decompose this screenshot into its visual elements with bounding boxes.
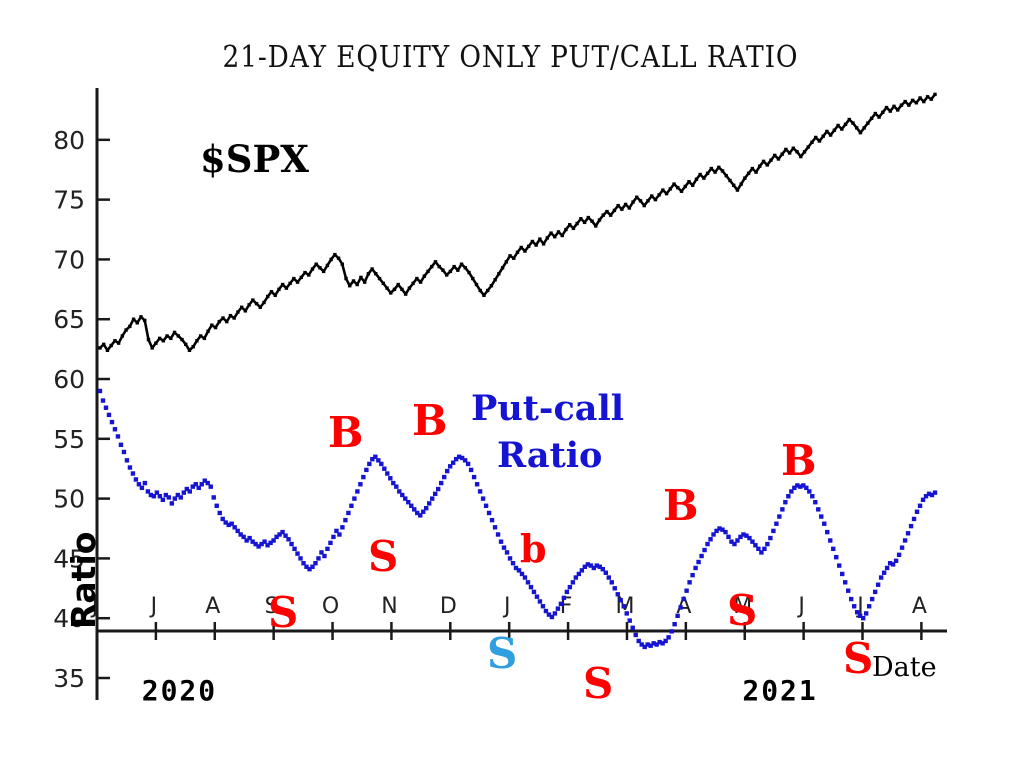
data-point <box>699 554 703 558</box>
data-point <box>867 604 871 608</box>
data-point <box>816 507 820 511</box>
x-tick-label: J <box>502 594 511 619</box>
data-point <box>445 469 449 473</box>
sell-signal-marker: S <box>268 592 298 634</box>
data-point <box>502 545 506 549</box>
data-point <box>292 547 296 551</box>
data-point <box>469 468 473 472</box>
data-point <box>343 518 347 522</box>
data-point <box>125 458 129 462</box>
data-point <box>499 539 503 543</box>
chart-canvas: 21-DAY EQUITY ONLY PUT/CALL RATIO 807570… <box>0 0 1021 781</box>
data-point <box>538 599 542 603</box>
data-point <box>116 434 120 438</box>
sell-signal-marker: S <box>727 590 757 632</box>
data-point <box>834 555 838 559</box>
data-point <box>170 501 174 505</box>
data-point <box>684 588 688 592</box>
data-point <box>379 462 383 466</box>
data-point <box>876 583 880 587</box>
data-point <box>128 465 132 469</box>
data-point <box>337 532 341 536</box>
data-point <box>340 525 344 529</box>
data-point <box>439 481 443 485</box>
data-point <box>822 522 826 526</box>
data-point <box>571 580 575 584</box>
data-point <box>861 616 865 620</box>
data-point <box>286 537 290 541</box>
data-point <box>681 597 685 601</box>
data-point <box>628 618 632 622</box>
y-tick-label: 35 <box>53 664 85 693</box>
data-point <box>562 596 566 600</box>
data-point <box>346 511 350 515</box>
data-point <box>110 420 114 424</box>
data-point <box>777 514 781 518</box>
y-tick-label: 75 <box>53 186 85 215</box>
data-point <box>505 550 509 554</box>
data-point <box>496 532 500 536</box>
data-point <box>490 518 494 522</box>
data-point <box>313 561 317 565</box>
data-point <box>424 506 428 510</box>
data-point <box>358 482 362 486</box>
data-point <box>783 500 787 504</box>
data-point <box>508 556 512 560</box>
data-point <box>367 462 371 466</box>
put-call-series-label: Put-call <box>471 390 624 428</box>
data-point <box>903 538 907 542</box>
y-tick-label: 65 <box>53 305 85 334</box>
data-point <box>705 542 709 546</box>
data-point <box>918 504 922 508</box>
data-point <box>840 572 844 576</box>
data-point <box>107 413 111 417</box>
data-point <box>328 541 332 545</box>
data-point <box>666 635 670 639</box>
series-segment <box>145 320 149 339</box>
data-point <box>559 602 563 606</box>
data-point <box>427 501 431 505</box>
sell-signal-marker: S <box>368 536 398 578</box>
data-point <box>565 590 569 594</box>
data-point <box>825 530 829 534</box>
data-point <box>493 525 497 529</box>
data-point <box>430 496 434 500</box>
x-tick-label: A <box>205 594 220 619</box>
data-point <box>161 498 165 502</box>
data-point <box>511 561 515 565</box>
data-point <box>433 492 437 496</box>
data-point <box>669 629 673 633</box>
x-tick-label: N <box>381 594 397 619</box>
put-call-series-label: Ratio <box>497 437 602 475</box>
data-point <box>843 580 847 584</box>
data-point <box>322 554 326 558</box>
x-axis-year-label: 2021 <box>742 674 817 707</box>
data-point <box>188 489 192 493</box>
data-point <box>607 575 611 579</box>
data-point <box>672 622 676 626</box>
data-point <box>702 548 706 552</box>
data-point <box>909 524 913 528</box>
data-point <box>289 542 293 546</box>
data-point <box>541 604 545 608</box>
sell-signal-marker: S <box>583 663 613 705</box>
data-point <box>481 496 485 500</box>
data-point <box>933 93 936 96</box>
x-axis-title: Date <box>872 652 937 683</box>
data-point <box>556 606 560 610</box>
data-point <box>708 537 712 541</box>
data-point <box>361 475 365 479</box>
data-point <box>553 611 557 615</box>
data-point <box>786 494 790 498</box>
data-point <box>625 611 629 615</box>
data-point <box>529 585 533 589</box>
data-point <box>693 566 697 570</box>
data-point <box>810 494 814 498</box>
data-point <box>762 547 766 551</box>
data-point <box>765 542 769 546</box>
buy-signal-marker: B <box>328 412 364 454</box>
data-point <box>349 504 353 508</box>
data-point <box>774 522 778 526</box>
data-point <box>864 611 868 615</box>
data-point <box>355 489 359 493</box>
y-tick-label: 80 <box>53 126 85 155</box>
data-point <box>382 467 386 471</box>
data-point <box>780 507 784 511</box>
data-point <box>675 614 679 618</box>
data-point <box>385 471 389 475</box>
data-point <box>532 590 536 594</box>
data-point <box>143 481 147 485</box>
data-point <box>622 604 626 608</box>
data-point <box>613 586 617 590</box>
x-axis-year-label: 2020 <box>142 674 217 707</box>
y-tick-label: 50 <box>53 485 85 514</box>
x-tick-label: J <box>149 594 158 619</box>
data-point <box>484 504 488 508</box>
buy-signal-marker: B <box>412 400 448 442</box>
data-point <box>768 536 772 540</box>
data-point <box>215 504 219 508</box>
data-point <box>119 443 123 447</box>
data-point <box>101 398 105 402</box>
y-tick-label: 55 <box>53 425 85 454</box>
data-point <box>535 594 539 598</box>
data-point <box>478 489 482 493</box>
data-point <box>906 531 910 535</box>
data-point <box>849 597 853 601</box>
data-point <box>104 406 108 410</box>
series-spx <box>98 93 936 352</box>
data-point <box>436 487 440 491</box>
y-tick-label: 60 <box>53 365 85 394</box>
data-point <box>352 496 356 500</box>
y-axis-title: Ratio <box>64 532 103 629</box>
x-tick-label: A <box>912 594 927 619</box>
data-point <box>831 547 835 551</box>
data-point <box>813 500 817 504</box>
data-point <box>212 495 216 499</box>
x-tick-label: D <box>440 594 457 619</box>
data-point <box>696 560 700 564</box>
data-point <box>568 585 572 589</box>
data-point <box>837 563 841 567</box>
data-point <box>897 553 901 557</box>
data-point <box>179 495 183 499</box>
data-point <box>388 476 392 480</box>
data-point <box>604 571 608 575</box>
y-tick-label: 70 <box>53 245 85 274</box>
data-point <box>610 580 614 584</box>
data-point <box>466 462 470 466</box>
data-point <box>879 575 883 579</box>
data-point <box>687 580 691 584</box>
spx-series-label: $SPX <box>200 137 309 181</box>
data-point <box>873 590 877 594</box>
data-point <box>131 471 135 475</box>
data-point <box>885 566 889 570</box>
data-point <box>295 551 299 555</box>
data-point <box>852 604 856 608</box>
data-point <box>394 484 398 488</box>
data-point <box>771 529 775 533</box>
data-point <box>894 559 898 563</box>
data-point <box>619 598 623 602</box>
data-point <box>487 511 491 515</box>
buy-signal-marker: B <box>663 485 699 527</box>
data-point <box>933 490 937 494</box>
data-point <box>442 475 446 479</box>
data-point <box>807 489 811 493</box>
data-point <box>218 511 222 515</box>
data-point <box>140 486 144 490</box>
data-point <box>690 573 694 577</box>
data-point <box>523 575 527 579</box>
data-point <box>900 545 904 549</box>
data-point <box>167 495 171 499</box>
data-point <box>726 535 730 539</box>
data-point <box>870 597 874 601</box>
x-tick-label: O <box>322 594 339 619</box>
x-axis-year-labels: 20202021 <box>142 674 818 707</box>
x-tick-label: J <box>796 594 805 619</box>
data-point <box>331 535 335 539</box>
series-segment <box>342 264 346 278</box>
data-point <box>526 580 530 584</box>
data-point <box>819 514 823 518</box>
data-point <box>915 510 919 514</box>
data-point <box>113 427 117 431</box>
data-point <box>98 389 102 393</box>
data-point <box>846 588 850 592</box>
sell-signal-marker: S <box>843 638 873 680</box>
data-point <box>209 484 213 488</box>
data-point <box>134 477 138 481</box>
data-point <box>912 517 916 521</box>
sell-signal-alt-marker: S <box>487 633 517 675</box>
data-point <box>298 556 302 560</box>
data-point <box>828 538 832 542</box>
data-point <box>475 482 479 486</box>
data-point <box>616 592 620 596</box>
data-point <box>678 605 682 609</box>
data-point <box>316 556 320 560</box>
data-point <box>472 475 476 479</box>
data-point <box>122 450 126 454</box>
buy-signal-marker: B <box>781 440 817 482</box>
data-point <box>631 626 635 630</box>
data-point <box>882 571 886 575</box>
data-point <box>325 547 329 551</box>
data-point <box>723 530 727 534</box>
data-point <box>634 633 638 637</box>
data-point <box>364 468 368 472</box>
buy-signal-minor-marker: b <box>520 530 547 568</box>
